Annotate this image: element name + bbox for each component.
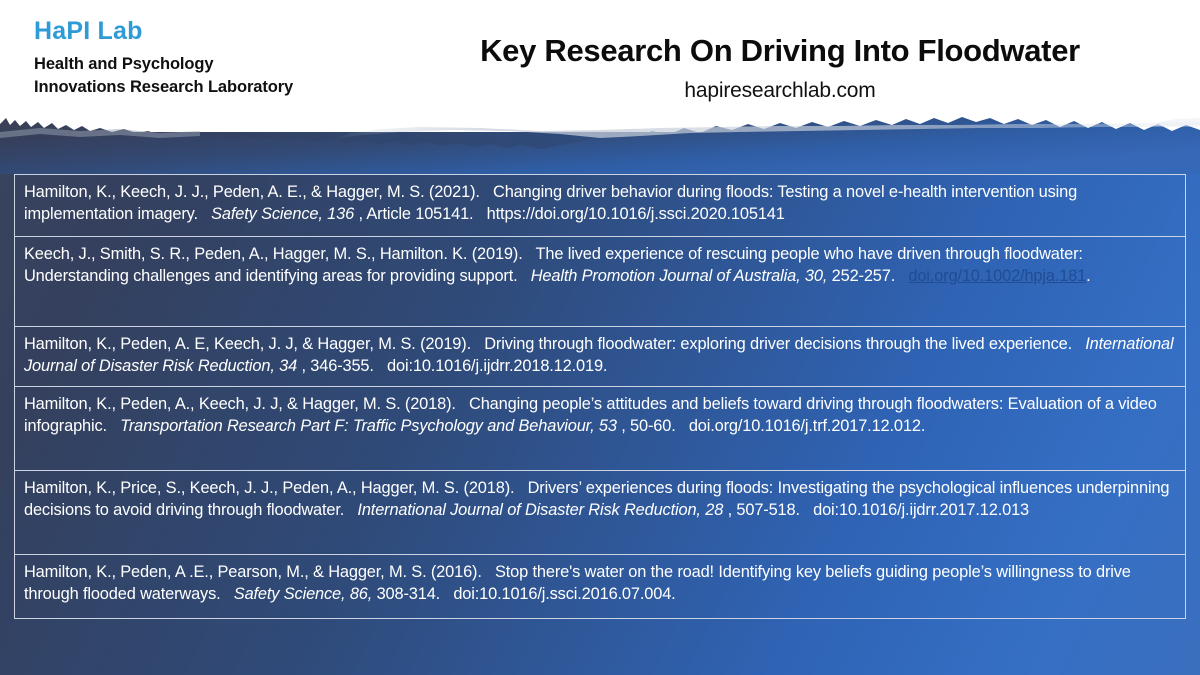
citation-detail: , Article 105141.: [358, 205, 473, 223]
citation-doi: doi:10.1016/j.ssci.2016.07.004.: [453, 585, 675, 603]
table-row: Hamilton, K., Peden, A .E., Pearson, M.,…: [15, 555, 1185, 619]
citation-journal: Safety Science, 136: [211, 205, 354, 223]
citation-authors: Hamilton, K., Peden, A., Keech, J. J, & …: [24, 395, 456, 413]
table-row: Hamilton, K., Keech, J. J., Peden, A. E.…: [15, 175, 1185, 237]
table-row: Hamilton, K., Peden, A. E, Keech, J. J, …: [15, 327, 1185, 387]
citation-detail: 252-257.: [832, 267, 896, 285]
citation-journal: International Journal of Disaster Risk R…: [357, 501, 723, 519]
citation-authors: Hamilton, K., Keech, J. J., Peden, A. E.…: [24, 183, 480, 201]
citation-authors: Hamilton, K., Price, S., Keech, J. J., P…: [24, 479, 514, 497]
citation-authors: Hamilton, K., Peden, A. E, Keech, J. J, …: [24, 335, 471, 353]
lab-logo-subtitle: Health and Psychology Innovations Resear…: [34, 53, 293, 98]
citation-doi: doi.org/10.1016/j.trf.2017.12.012.: [689, 417, 925, 435]
citation-journal: Safety Science, 86,: [234, 585, 372, 603]
slide-canvas: HaPI Lab Health and Psychology Innovatio…: [0, 0, 1200, 675]
citation-doi: doi:10.1016/j.ijdrr.2018.12.019.: [387, 357, 607, 375]
citation-journal: Transportation Research Part F: Traffic …: [120, 417, 617, 435]
lab-logo-name: HaPI Lab: [34, 16, 293, 47]
citation-detail: , 50-60.: [621, 417, 675, 435]
citation-journal: Health Promotion Journal of Australia, 3…: [531, 267, 827, 285]
title-block: Key Research On Driving Into Floodwater …: [400, 32, 1160, 103]
table-row: Hamilton, K., Price, S., Keech, J. J., P…: [15, 471, 1185, 555]
page-title: Key Research On Driving Into Floodwater: [400, 32, 1160, 69]
citation-authors: Keech, J., Smith, S. R., Peden, A., Hagg…: [24, 245, 523, 263]
citation-doi: doi:10.1016/j.ijdrr.2017.12.013: [813, 501, 1029, 519]
citation-detail: , 507-518.: [728, 501, 800, 519]
website-url: hapiresearchlab.com: [400, 79, 1160, 103]
lab-logo-subtitle-line2: Innovations Research Laboratory: [34, 76, 293, 98]
citation-detail: , 346-355.: [301, 357, 373, 375]
citation-doi-trailing: .: [1086, 267, 1090, 285]
citation-authors: Hamilton, K., Peden, A .E., Pearson, M.,…: [24, 563, 482, 581]
citation-title: Driving through floodwater: exploring dr…: [484, 335, 1072, 353]
lab-logo: HaPI Lab Health and Psychology Innovatio…: [34, 16, 293, 98]
citation-doi-link[interactable]: doi.org/10.1002/hpja.181: [908, 267, 1086, 285]
citation-table: Hamilton, K., Keech, J. J., Peden, A. E.…: [14, 174, 1186, 619]
table-row: Keech, J., Smith, S. R., Peden, A., Hagg…: [15, 237, 1185, 327]
citation-detail: 308-314.: [377, 585, 441, 603]
citation-doi: https://doi.org/10.1016/j.ssci.2020.1051…: [487, 205, 785, 223]
table-row: Hamilton, K., Peden, A., Keech, J. J, & …: [15, 387, 1185, 471]
lab-logo-subtitle-line1: Health and Psychology: [34, 53, 293, 75]
